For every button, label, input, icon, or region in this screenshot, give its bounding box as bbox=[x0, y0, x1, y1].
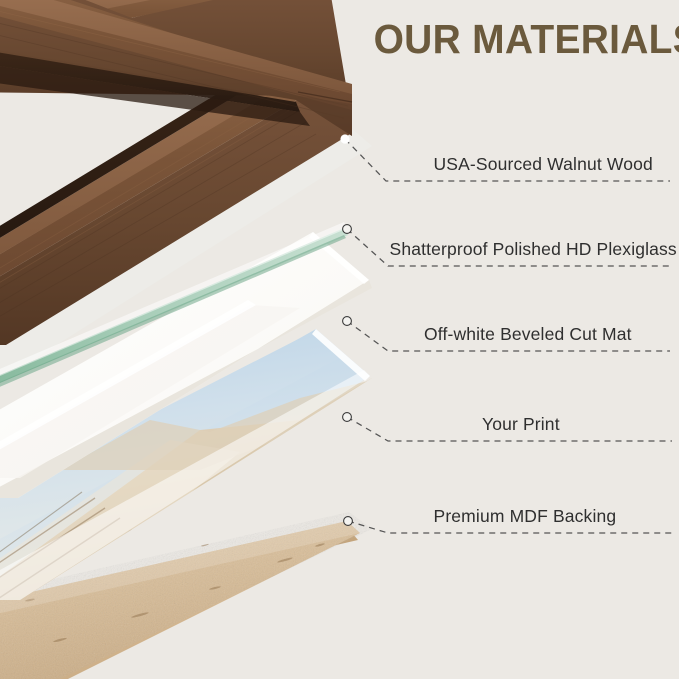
infographic-canvas: OUR MATERIALS USA-Sourced Walnut Wood Sh… bbox=[0, 0, 679, 679]
callout-label-walnut-wood: USA-Sourced Walnut Wood bbox=[434, 154, 653, 175]
callout-label-mdf-backing: Premium MDF Backing bbox=[434, 506, 617, 527]
page-title: OUR MATERIALS bbox=[374, 18, 670, 61]
callout-label-print: Your Print bbox=[482, 414, 560, 435]
callout-label-mat: Off-white Beveled Cut Mat bbox=[424, 324, 632, 345]
ring-marker bbox=[344, 517, 353, 526]
ring-marker bbox=[343, 317, 352, 326]
ring-marker bbox=[343, 225, 352, 234]
ring-marker bbox=[343, 413, 352, 422]
callout-label-plexiglass: Shatterproof Polished HD Plexiglass bbox=[390, 239, 677, 260]
filled-dot-marker bbox=[340, 134, 349, 143]
